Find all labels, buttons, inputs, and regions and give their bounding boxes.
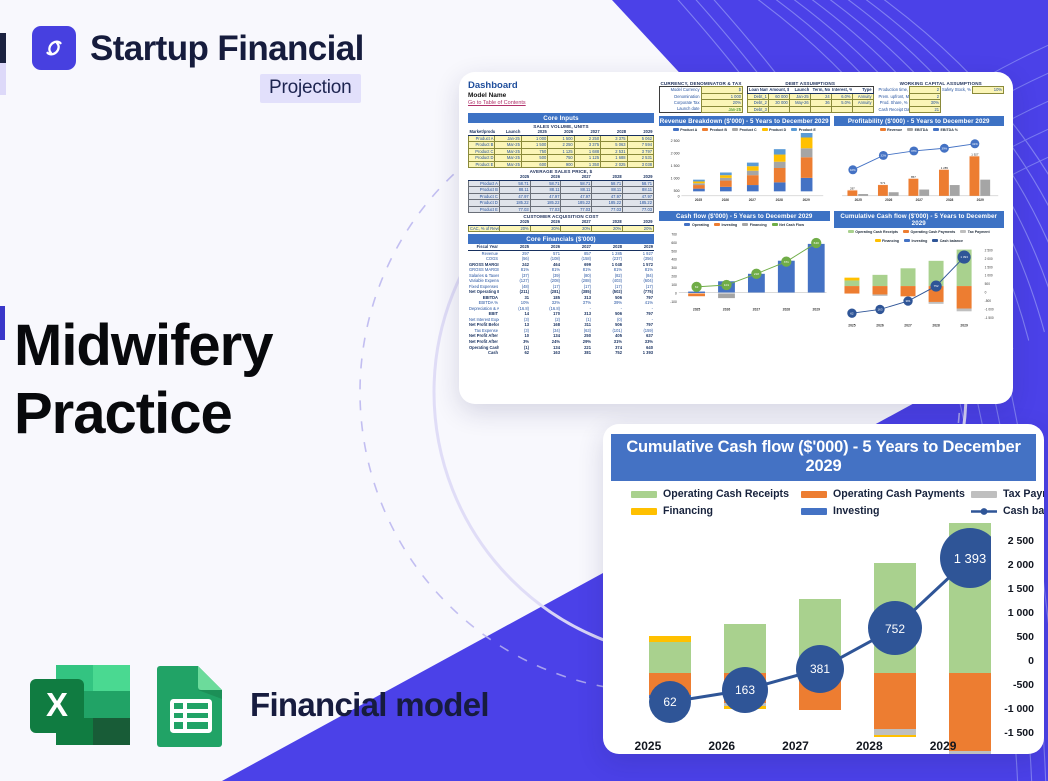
svg-text:2026: 2026 <box>722 198 729 202</box>
legend-item: Tax Payment <box>960 230 989 234</box>
legend-item: Financing <box>742 223 766 227</box>
svg-text:500: 500 <box>671 249 677 253</box>
svg-text:571: 571 <box>880 181 885 185</box>
legend-item: Operating Cash Payments <box>801 488 971 500</box>
legend-item: Operating Cash Receipts <box>848 230 898 234</box>
currency-caption: CURRENCY, DENOMINATOR & TAX <box>659 80 743 86</box>
x-axis-labels: 20252026202720282029 <box>611 739 980 753</box>
x-tick-label: 2027 <box>759 739 833 753</box>
avg-price-table: 2025 2026 2027 2028 2029 Product A 58.71… <box>468 174 654 213</box>
dashboard-toc-link[interactable]: Go to Table of Contents <box>468 100 654 108</box>
cumulative-cashflow-card[interactable]: Cumulative Cash flow ($'000) - 5 Years t… <box>603 424 1044 754</box>
legend-swatch <box>702 128 708 130</box>
profitability-title: Profitability ($'000) - 5 Years to Decem… <box>834 116 1005 126</box>
legend-swatch <box>960 230 966 232</box>
footer-label: Financial model <box>250 686 489 724</box>
legend-label: Product A <box>680 128 697 132</box>
x-tick-label: 2026 <box>685 739 759 753</box>
svg-text:2027: 2027 <box>753 307 761 311</box>
svg-text:1 393: 1 393 <box>960 255 968 259</box>
cash-flow-plot: 700600500 400300200 1000-100 <box>659 228 830 314</box>
data-label-2028: 752 <box>885 622 905 636</box>
edge-sliver-blue <box>0 306 5 340</box>
cumulative-cash-flow-plot: 2 5002 0001 500 1 0005000 -500-1 000-1 5… <box>834 244 1005 330</box>
legend-item: Cash balance <box>932 239 963 243</box>
legend-item: Financing <box>875 239 899 243</box>
dashboard-spreadsheet-column: Dashboard Model Name Go to Table of Cont… <box>468 80 654 396</box>
profitability-plot: 10%32%37% 39%41% 297 571 857 1 285 1 927 <box>834 133 1005 203</box>
legend-item: Cash balance <box>971 505 1044 517</box>
col-header: Amount, $ <box>768 87 789 94</box>
legend-swatch <box>904 239 910 241</box>
svg-text:62: 62 <box>850 311 854 315</box>
data-label-2027: 381 <box>810 662 830 676</box>
legend-swatch <box>732 128 738 130</box>
legend-swatch <box>880 128 886 130</box>
legend-item: EBITDA <box>907 128 928 132</box>
legend-swatch <box>631 508 657 515</box>
legend-item: Investing <box>801 505 971 517</box>
legend-swatch <box>631 491 657 498</box>
legend-item: Revenue <box>880 128 902 132</box>
revenue-breakdown-chart[interactable]: Revenue Breakdown ($'000) - 5 Years to D… <box>659 116 830 208</box>
legend-item: Investing <box>904 239 927 243</box>
svg-text:500: 500 <box>674 189 680 193</box>
legend-swatch <box>875 239 881 241</box>
cumulative-cashflow-title: Cumulative Cash flow ($'000) - 5 Years t… <box>611 434 1036 481</box>
legend-label: Investing <box>721 223 737 227</box>
legend-swatch <box>903 230 909 232</box>
svg-text:700: 700 <box>671 233 677 237</box>
svg-text:300: 300 <box>671 266 677 270</box>
brand-logo-mark <box>32 26 76 70</box>
svg-text:41%: 41% <box>972 142 978 146</box>
svg-text:857: 857 <box>911 175 916 179</box>
y-tick-label: 0 <box>978 649 1034 673</box>
svg-text:218: 218 <box>754 272 759 276</box>
y-tick-label: -1 500 <box>978 721 1034 745</box>
svg-text:0: 0 <box>675 291 677 295</box>
x-tick-label: 2028 <box>832 739 906 753</box>
cumulative-cash-flow-title: Cumulative Cash flow ($'000) - 5 Years t… <box>834 211 1005 228</box>
table-row: Cash621633817521 393 <box>468 350 654 356</box>
footer-badges: X Financial model <box>28 663 489 747</box>
poster-root: Startup Financial Projection Midwifery P… <box>0 0 1048 781</box>
svg-text:2027: 2027 <box>915 198 922 202</box>
svg-text:752: 752 <box>933 284 938 288</box>
svg-text:2025: 2025 <box>693 307 701 311</box>
y-tick-label: 2 500 <box>978 529 1034 553</box>
data-label-2025: 62 <box>663 695 677 709</box>
svg-text:2025: 2025 <box>848 323 856 327</box>
svg-text:297: 297 <box>850 187 855 191</box>
svg-text:2028: 2028 <box>776 198 783 202</box>
legend-swatch <box>684 223 690 225</box>
svg-text:62: 62 <box>695 285 699 289</box>
legend-label: Tax Payment <box>1003 488 1044 500</box>
svg-text:2 000: 2 000 <box>671 152 680 156</box>
svg-text:200: 200 <box>671 275 677 279</box>
table-row: Cash Receipt Days21 <box>878 106 1004 113</box>
svg-text:2 500: 2 500 <box>671 139 680 143</box>
brand-subtitle: Projection <box>260 74 361 103</box>
legend-swatch <box>801 491 827 498</box>
core-financials-band: Core Financials ($'000) <box>468 234 654 244</box>
cumulative-cash-flow-mini-chart[interactable]: Cumulative Cash flow ($'000) - 5 Years t… <box>834 211 1005 335</box>
cash-flow-title: Cash flow ($'000) - 5 Years to December … <box>659 211 830 221</box>
col-header: Interest, % <box>831 87 852 94</box>
svg-text:400: 400 <box>671 258 677 262</box>
legend-label: Financing <box>882 239 899 243</box>
table-row: CAC, % of Revenue 20% 20% 20% 20% 20% <box>469 225 654 232</box>
legend-line-swatch <box>971 507 997 516</box>
profitability-legend: RevenueEBITDAEBITDA % <box>834 126 1005 133</box>
svg-text:1 500: 1 500 <box>671 164 680 168</box>
legend-label: Financing <box>750 223 767 227</box>
legend-swatch <box>801 508 827 515</box>
svg-text:2025: 2025 <box>854 198 861 202</box>
svg-text:101: 101 <box>724 283 729 287</box>
dashboard-model-name: Model Name <box>468 92 654 100</box>
legend-item: Operating Cash Receipts <box>631 488 801 500</box>
y-tick-label: -1 000 <box>978 697 1034 721</box>
dashboard-title: Dashboard <box>468 80 654 92</box>
brand-header: Startup Financial <box>32 26 364 70</box>
legend-label: Product D <box>769 128 786 132</box>
svg-text:2 000: 2 000 <box>984 257 992 261</box>
svg-text:2029: 2029 <box>960 323 968 327</box>
svg-text:10%: 10% <box>849 168 855 172</box>
x-tick-label: 2029 <box>906 739 980 753</box>
svg-text:640: 640 <box>814 241 819 245</box>
svg-text:2029: 2029 <box>976 198 983 202</box>
revenue-breakdown-plot: 2 5002 000 1 5001 000 5000 <box>659 133 830 203</box>
svg-text:2028: 2028 <box>946 198 953 202</box>
legend-swatch <box>848 230 854 232</box>
legend-label: Investing <box>912 239 928 243</box>
svg-text:2026: 2026 <box>876 323 884 327</box>
legend-item: Tax Payment <box>971 488 1044 500</box>
cac-table: 2025 2026 2027 2028 2029 CAC, % of Reven… <box>468 219 654 232</box>
svg-text:X: X <box>46 686 68 723</box>
table-row: Product E 77.03 77.03 77.03 77.03 77.03 <box>469 206 654 213</box>
sales-volume-table: Market/product Launch 2025 2026 2027 202… <box>468 129 654 168</box>
legend-item: Operating <box>684 223 708 227</box>
legend-item: Investing <box>714 223 737 227</box>
svg-text:2028: 2028 <box>783 307 791 311</box>
dashboard-body: Dashboard Model Name Go to Table of Cont… <box>468 80 1004 396</box>
legend-swatch <box>772 223 778 225</box>
svg-text:500: 500 <box>984 282 990 286</box>
svg-text:-1 500: -1 500 <box>984 316 993 320</box>
svg-text:1 000: 1 000 <box>671 177 680 181</box>
col-header: Market/product <box>469 129 495 135</box>
legend-swatch <box>714 223 720 225</box>
y-tick-label: 2 000 <box>978 553 1034 577</box>
legend-label: Financing <box>663 505 713 517</box>
core-financials-table: Fiscal Year20252026202720282029Revenue29… <box>468 244 654 355</box>
legend-label: Revenue <box>887 128 902 132</box>
legend-item: Product C <box>732 128 757 132</box>
svg-text:-500: -500 <box>984 299 991 303</box>
revenue-breakdown-title: Revenue Breakdown ($'000) - 5 Years to D… <box>659 116 830 126</box>
y-tick-label: 500 <box>978 625 1034 649</box>
svg-text:2026: 2026 <box>723 307 731 311</box>
legend-swatch <box>742 223 748 225</box>
page-title: Midwifery Practice <box>14 312 414 449</box>
legend-label: Operating Cash Payments <box>833 488 965 500</box>
brand-title: Startup Financial <box>90 31 364 66</box>
svg-text:39%: 39% <box>941 146 947 150</box>
svg-text:381: 381 <box>905 299 910 303</box>
cash-flow-legend: OperatingInvestingFinancingNet Cash Flow <box>659 221 830 228</box>
cumulative-cashflow-svg: 62 163 381 752 1 393 <box>611 523 991 754</box>
legend-item: Product D <box>762 128 787 132</box>
dashboard-preview-card[interactable]: Dashboard Model Name Go to Table of Cont… <box>459 72 1013 404</box>
legend-label: Product E <box>799 128 816 132</box>
svg-text:2028: 2028 <box>932 323 940 327</box>
edge-sliver-navy <box>0 33 6 63</box>
svg-text:163: 163 <box>877 308 882 312</box>
core-inputs-band: Core Inputs <box>468 113 654 123</box>
legend-swatch <box>933 128 939 130</box>
edge-sliver-lilac <box>0 63 6 95</box>
working-capital-panel: WORKING CAPITAL ASSUMPTIONS Production t… <box>878 80 1005 113</box>
x-tick-label: 2025 <box>611 739 685 753</box>
legend-swatch <box>907 128 913 130</box>
profitability-chart[interactable]: Profitability ($'000) - 5 Years to Decem… <box>834 116 1005 208</box>
svg-text:2 500: 2 500 <box>984 249 992 253</box>
swirl-logo-icon <box>40 34 68 62</box>
svg-text:2026: 2026 <box>885 198 892 202</box>
table-row: Debt_3 <box>748 106 874 113</box>
legend-label: EBITDA % <box>940 128 957 132</box>
legend-item: Product A <box>673 128 698 132</box>
revenue-breakdown-legend: Product AProduct BProduct CProduct DProd… <box>659 126 830 133</box>
currency-panel: CURRENCY, DENOMINATOR & TAX Model Curren… <box>659 80 743 113</box>
svg-text:2029: 2029 <box>812 307 820 311</box>
table-row: Launch date Jan-25 <box>660 106 743 113</box>
legend-label: EBITDA <box>915 128 928 132</box>
svg-text:1 285: 1 285 <box>940 166 948 170</box>
legend-item: EBITDA % <box>933 128 958 132</box>
legend-label: Operating Cash Receipts <box>855 230 898 234</box>
legend-item: Operating Cash Payments <box>903 230 955 234</box>
legend-swatch <box>673 128 679 130</box>
svg-text:600: 600 <box>671 241 677 245</box>
svg-text:2029: 2029 <box>803 198 810 202</box>
y-tick-label: 1 500 <box>978 577 1034 601</box>
svg-text:-1 000: -1 000 <box>984 307 993 311</box>
legend-label: Operating Cash Receipts <box>663 488 789 500</box>
legend-label: Product C <box>739 128 756 132</box>
legend-label: Product B <box>710 128 727 132</box>
legend-label: Operating <box>692 223 709 227</box>
y-tick-label: 1 000 <box>978 601 1034 625</box>
svg-text:1 927: 1 927 <box>971 152 979 156</box>
svg-text:2025: 2025 <box>695 198 702 202</box>
dashboard-charts-column: CURRENCY, DENOMINATOR & TAX Model Curren… <box>659 80 1004 396</box>
legend-item: Net Cash Flow <box>772 223 804 227</box>
table-row: Product E Mar-25 600 900 1 350 2 025 3 0… <box>469 161 654 168</box>
svg-text:32%: 32% <box>880 154 886 158</box>
legend-swatch <box>971 491 997 498</box>
svg-text:-100: -100 <box>670 300 677 304</box>
legend-swatch <box>791 128 797 130</box>
legend-label: Operating Cash Payments <box>911 230 956 234</box>
cumulative-cashflow-legend: Operating Cash ReceiptsOperating Cash Pa… <box>611 481 1036 519</box>
svg-text:2027: 2027 <box>904 323 912 327</box>
assumption-panels: CURRENCY, DENOMINATOR & TAX Model Curren… <box>659 80 1004 113</box>
legend-label: Tax Payment <box>968 230 990 234</box>
svg-text:1 500: 1 500 <box>984 265 992 269</box>
col-header: Loan Name <box>748 87 769 94</box>
page-title-line2: Practice <box>14 380 414 448</box>
legend-item: Product E <box>791 128 815 132</box>
col-header: Term, No <box>810 87 831 94</box>
legend-label: Investing <box>833 505 880 517</box>
brand-subtitle-wrap: Projection <box>260 74 361 103</box>
y-tick-label: -500 <box>978 673 1034 697</box>
svg-text:0: 0 <box>984 291 986 295</box>
microsoft-excel-icon: X <box>28 663 132 747</box>
legend-label: Cash balance <box>1003 505 1044 517</box>
svg-text:371: 371 <box>784 260 789 264</box>
y-axis-labels: 2 5002 0001 5001 0005000-500-1 000-1 500 <box>978 529 1034 745</box>
svg-text:1 000: 1 000 <box>984 274 992 278</box>
svg-text:0: 0 <box>678 195 680 199</box>
legend-label: Cash balance <box>940 239 963 243</box>
legend-swatch <box>932 239 938 241</box>
legend-swatch <box>762 128 768 130</box>
debt-panel: DEBT ASSUMPTIONS Loan NameAmount, $Launc… <box>747 80 874 113</box>
data-label-2026: 163 <box>735 683 755 697</box>
cash-flow-chart[interactable]: Cash flow ($'000) - 5 Years to December … <box>659 211 830 335</box>
legend-item: Financing <box>631 505 801 517</box>
legend-label: Net Cash Flow <box>779 223 804 227</box>
cumulative-cash-flow-legend: Operating Cash ReceiptsOperating Cash Pa… <box>834 228 1005 244</box>
google-sheets-icon <box>154 663 228 747</box>
legend-item: Product B <box>702 128 727 132</box>
cumulative-cashflow-plot: 62 163 381 752 1 393 2 5002 0001 5001 00… <box>611 523 1036 754</box>
svg-text:100: 100 <box>671 283 677 287</box>
svg-text:37%: 37% <box>910 149 916 153</box>
page-title-line1: Midwifery <box>14 312 414 380</box>
svg-text:2027: 2027 <box>749 198 756 202</box>
